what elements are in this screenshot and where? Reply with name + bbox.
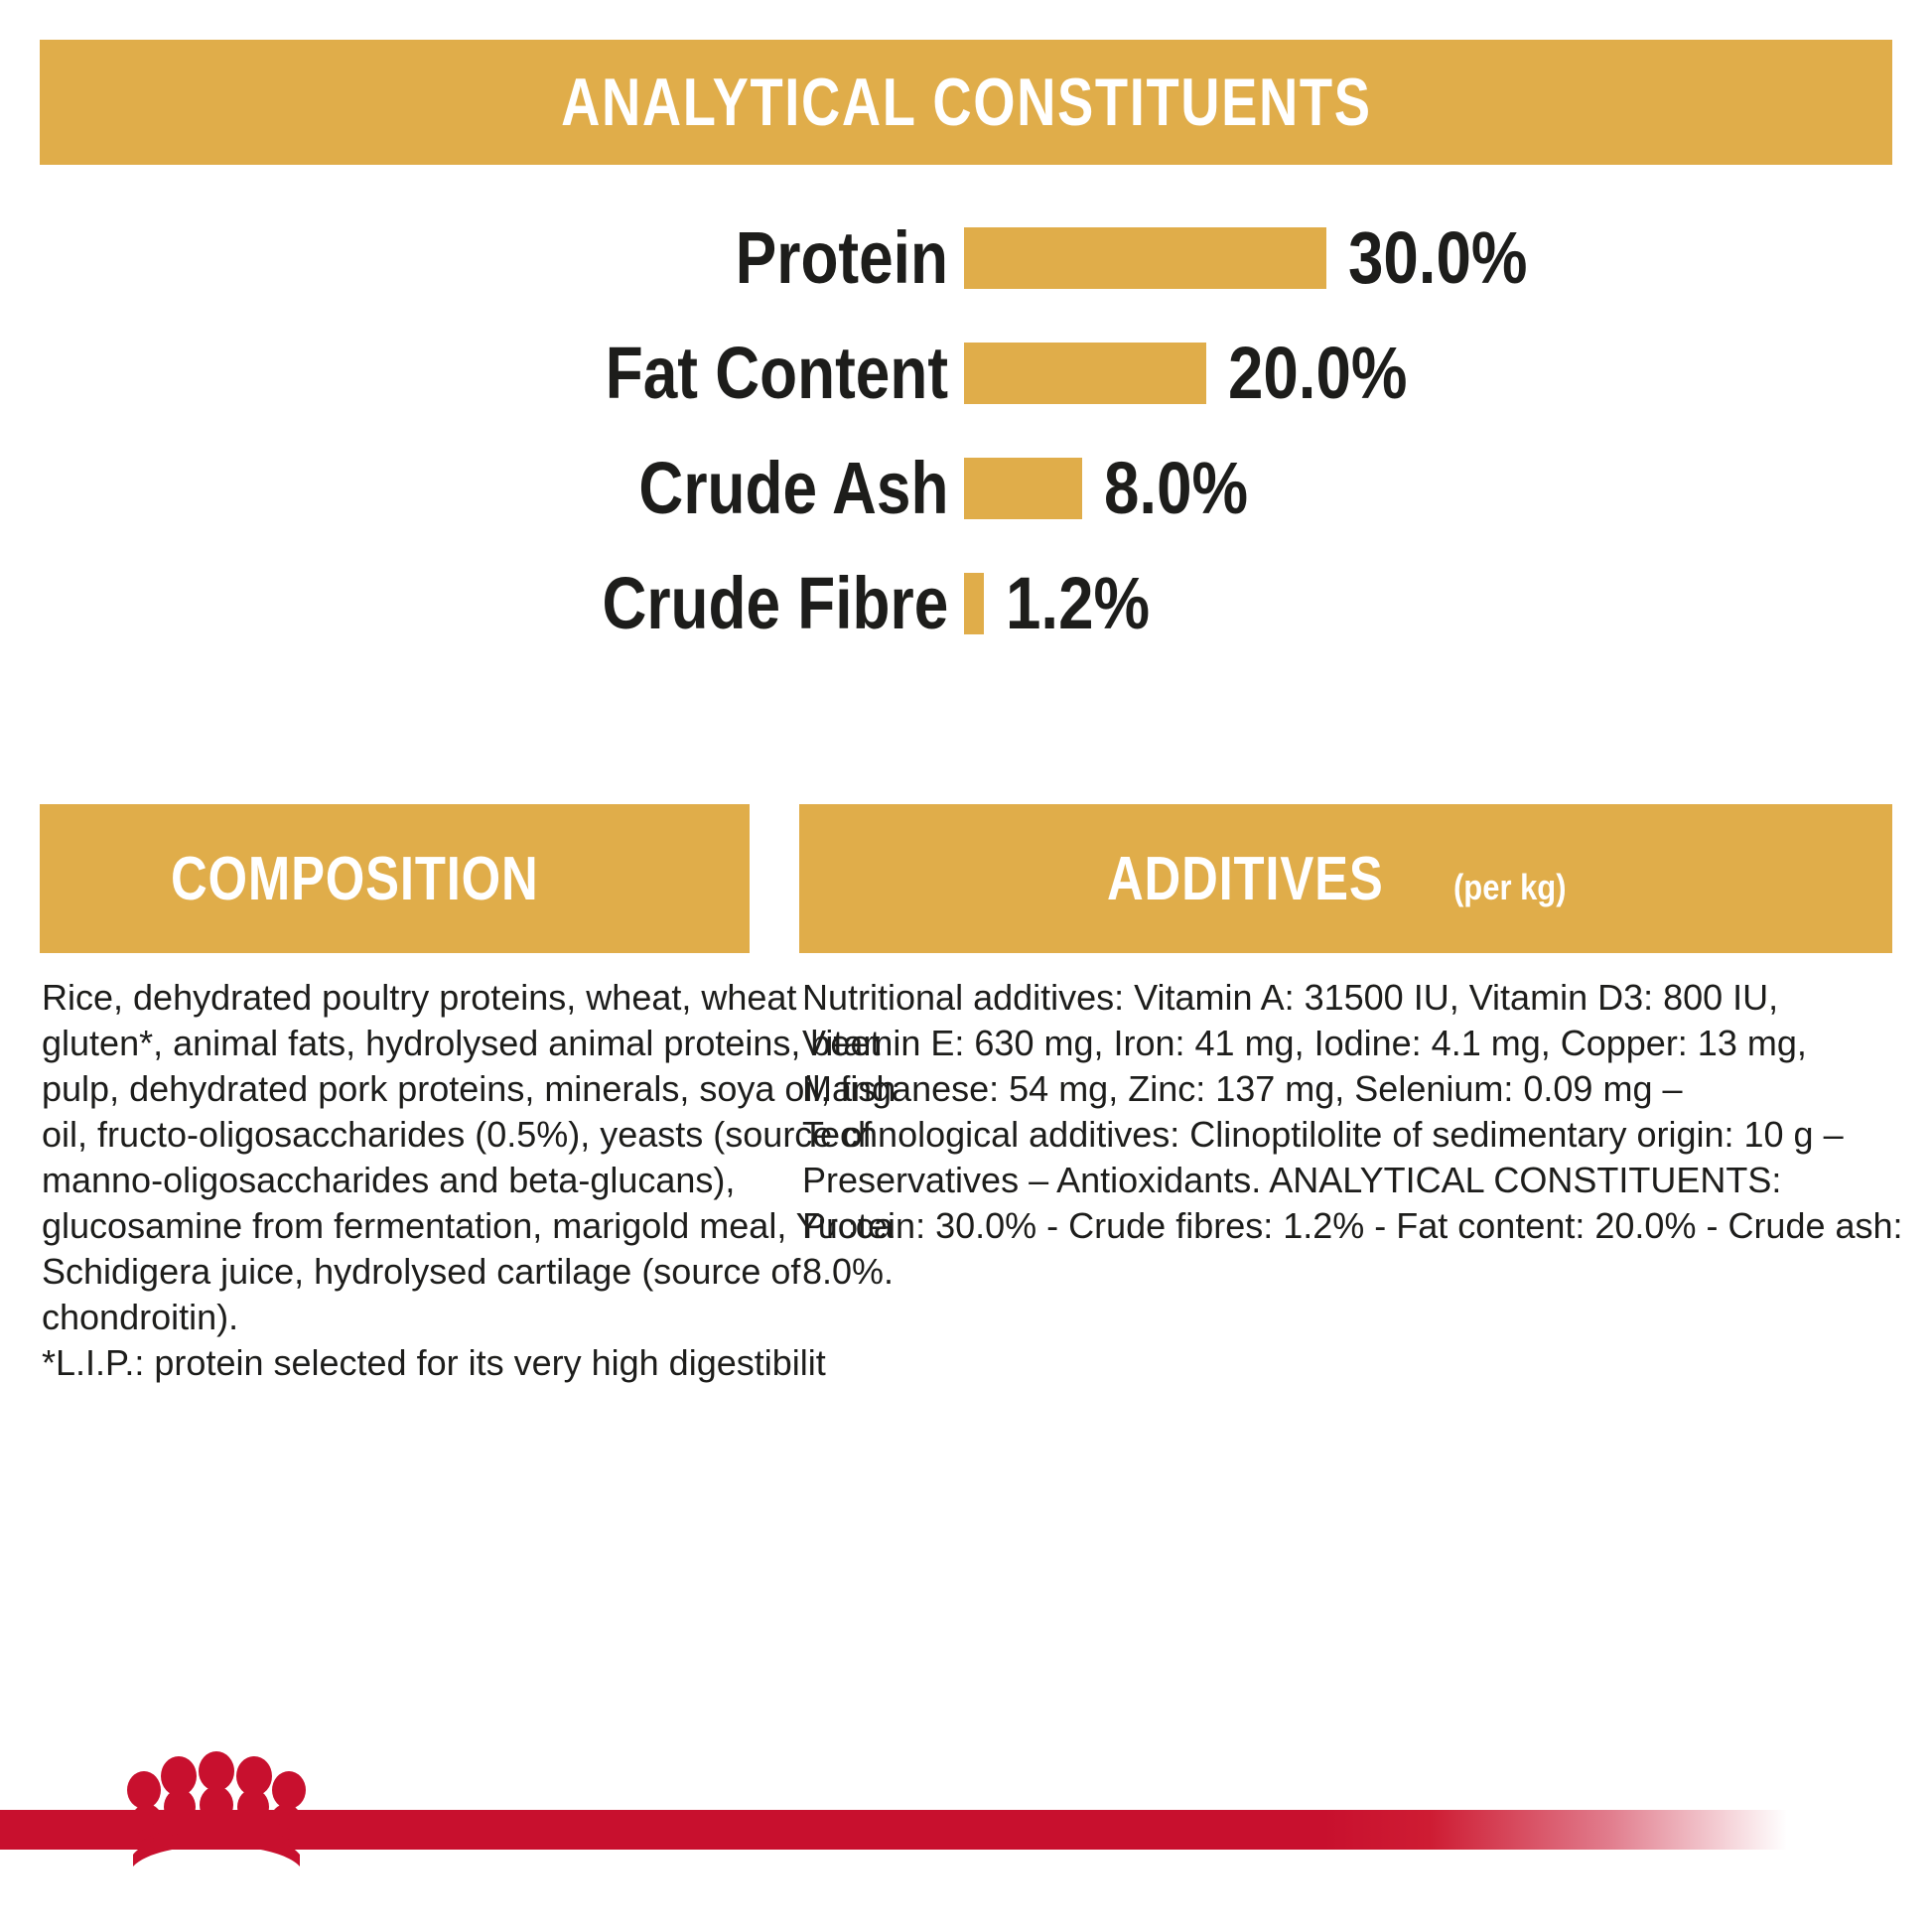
composition-text-block: Rice, dehydrated poultry proteins, wheat… <box>42 975 915 1386</box>
chart-row: Crude Fibre 1.2% <box>0 556 1932 651</box>
royal-canin-crown-icon <box>117 1749 316 1866</box>
bar-crude-fibre <box>964 573 984 634</box>
chart-row: Fat Content 20.0% <box>0 326 1932 421</box>
analytical-constituents-banner: ANALYTICAL CONSTITUENTS <box>40 40 1892 165</box>
bar-value-label: 30.0% <box>1348 221 1557 295</box>
composition-ingredients: Rice, dehydrated poultry proteins, wheat… <box>42 975 915 1340</box>
additives-banner: ADDITIVES (per kg) <box>799 804 1892 953</box>
bar-protein <box>964 227 1326 289</box>
composition-heading: COMPOSITION <box>171 844 539 914</box>
bar-value-label: 8.0% <box>1104 452 1272 525</box>
chart-row: Crude Ash 8.0% <box>0 441 1932 536</box>
bar-value-label: 20.0% <box>1228 337 1437 410</box>
composition-banner: COMPOSITION <box>40 804 750 953</box>
bar-category-label: Crude Fibre <box>0 567 948 640</box>
bar-category-label: Fat Content <box>0 337 948 410</box>
constituents-bar-chart: Protein 30.0% Fat Content 20.0% Crude As… <box>0 197 1932 614</box>
bar-value-label: 1.2% <box>1006 567 1173 640</box>
bar-crude-ash <box>964 458 1082 519</box>
bar-fat-content <box>964 343 1206 404</box>
additives-text-block: Nutritional additives: Vitamin A: 31500 … <box>802 975 1904 1295</box>
additives-heading-suffix: (per kg) <box>1453 867 1567 908</box>
composition-footnote: *L.I.P.: protein selected for its very h… <box>42 1340 915 1386</box>
bar-category-label: Protein <box>0 221 948 295</box>
additives-heading: ADDITIVES <box>1107 844 1384 914</box>
chart-row: Protein 30.0% <box>0 210 1932 306</box>
bar-category-label: Crude Ash <box>0 452 948 525</box>
page-title: ANALYTICAL CONSTITUENTS <box>561 64 1372 141</box>
additives-list: Nutritional additives: Vitamin A: 31500 … <box>802 975 1904 1295</box>
